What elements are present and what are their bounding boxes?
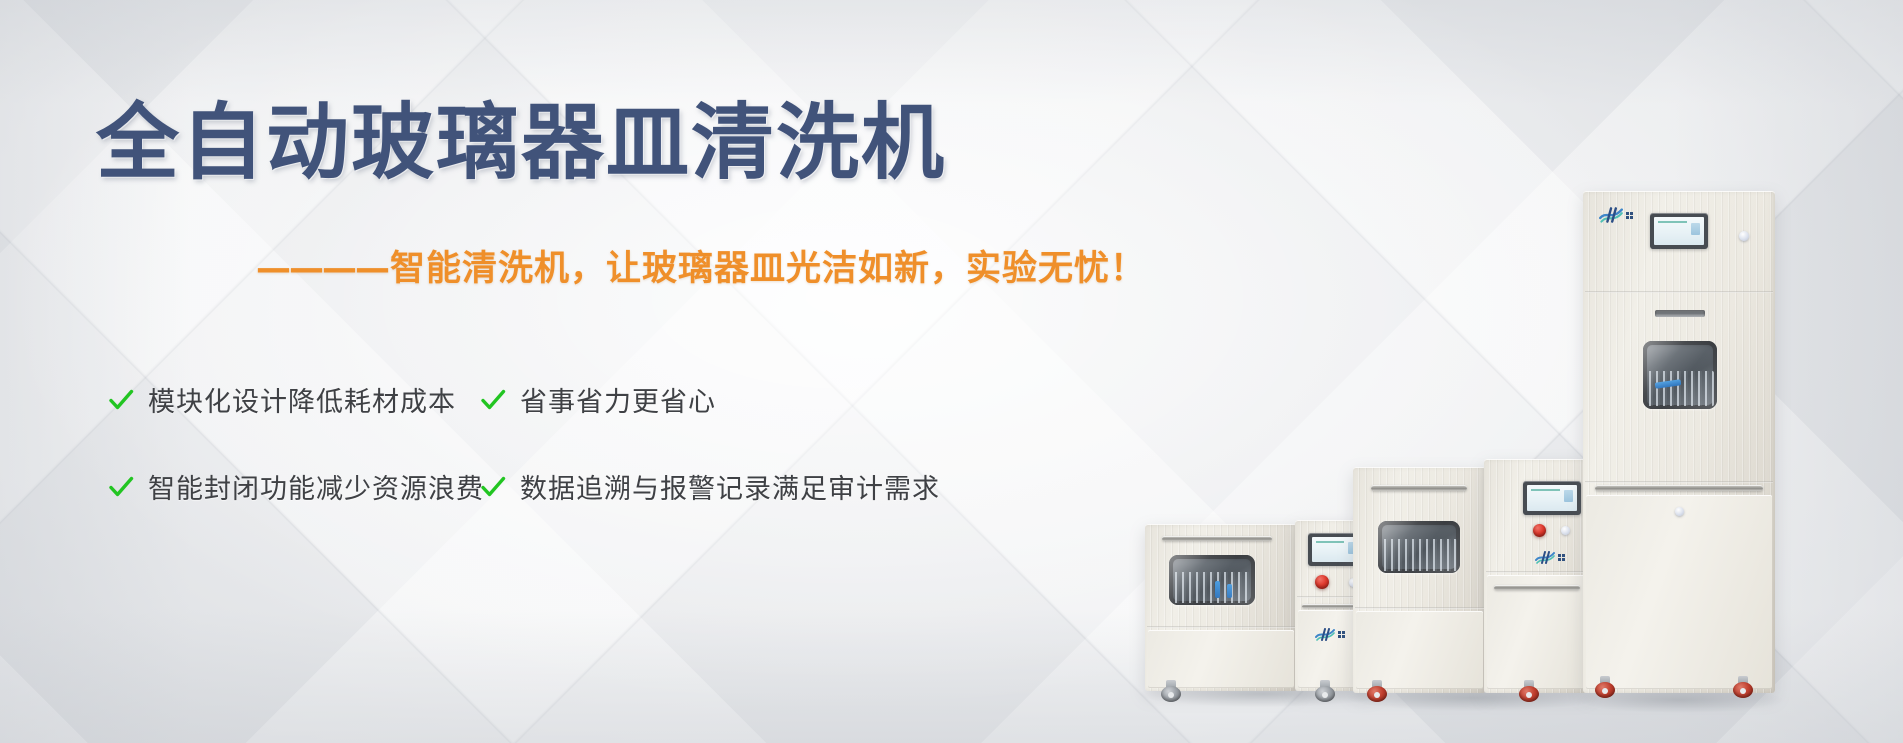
feature-row: 模块化设计降低耗材成本 省事省力更省心 <box>108 380 1088 419</box>
caster-wheel <box>1733 676 1753 698</box>
product-banner: 全自动玻璃器皿清洗机 ————智能清洗机，让玻璃器皿光洁如新，实验无忧！ 模块化… <box>0 0 1903 743</box>
caster-wheel <box>1161 680 1181 702</box>
tower-panel-seam <box>1486 571 1586 573</box>
banner-subheadline: ————智能清洗机，让玻璃器皿光洁如新，实验无忧！ <box>256 240 1146 291</box>
touchscreen[interactable] <box>1650 213 1708 249</box>
check-icon <box>108 474 134 500</box>
check-icon <box>480 387 506 413</box>
feature-label: 模块化设计降低耗材成本 <box>148 380 456 419</box>
product-undercounter-washer <box>1145 520 1377 695</box>
emergency-stop-button[interactable] <box>1315 575 1329 589</box>
brand-logo <box>1599 207 1633 223</box>
check-icon <box>480 474 506 500</box>
brand-logo-mark <box>1315 628 1335 641</box>
caster-wheel <box>1519 680 1539 702</box>
panel-lock[interactable] <box>1675 507 1684 516</box>
brand-logo-dots <box>1338 631 1345 638</box>
product-image-group <box>1063 0 1903 743</box>
caster-wheel <box>1315 680 1335 702</box>
brand-logo-mark <box>1535 551 1555 564</box>
power-button[interactable] <box>1739 231 1749 241</box>
chamber-door-window <box>1169 555 1255 605</box>
touchscreen-display <box>1527 485 1577 511</box>
feature-label: 智能封闭功能减少资源浪费 <box>148 467 484 506</box>
product-freestanding-washer <box>1353 459 1589 699</box>
feature-row: 智能封闭功能减少资源浪费 数据追溯与报警记录满足审计需求 <box>108 467 1088 506</box>
check-icon <box>108 387 134 413</box>
feature-label: 省事省力更省心 <box>520 380 716 419</box>
banner-text-column: 全自动玻璃器皿清洗机 ————智能清洗机，让玻璃器皿光洁如新，实验无忧！ 模块化… <box>0 0 1120 743</box>
banner-headline: 全自动玻璃器皿清洗机 <box>96 98 946 188</box>
lower-access-panel <box>1356 611 1483 689</box>
chamber-door-window <box>1643 341 1717 409</box>
feature-item: 省事省力更省心 <box>480 380 1088 419</box>
product-tall-column-washer <box>1583 191 1775 701</box>
subheadline-text: 智能清洗机，让玻璃器皿光洁如新，实验无忧！ <box>390 249 1146 289</box>
feature-list: 模块化设计降低耗材成本 省事省力更省心 智能封闭功能减少资源浪费 <box>108 380 1088 554</box>
tower-lower-panel <box>1487 575 1586 689</box>
emergency-stop-button[interactable] <box>1533 524 1546 537</box>
vent-slot <box>1655 310 1705 317</box>
chamber-panel-seam <box>1147 626 1295 628</box>
brand-logo <box>1315 628 1345 641</box>
brand-logo-dots <box>1626 212 1633 219</box>
subheadline-dash: ———— <box>256 249 388 289</box>
power-button[interactable] <box>1561 526 1570 535</box>
feature-label: 数据追溯与报警记录满足审计需求 <box>520 467 940 506</box>
touchscreen-display <box>1654 217 1704 245</box>
caster-wheel <box>1595 676 1615 698</box>
caster-wheel <box>1367 680 1387 702</box>
lower-panel-seam <box>1585 481 1773 483</box>
chamber-door-handle <box>1371 485 1467 491</box>
window-glass-reflection <box>1169 555 1255 605</box>
feature-item: 模块化设计降低耗材成本 <box>108 380 480 419</box>
tower-drawer-handle <box>1494 585 1580 590</box>
brand-logo <box>1535 551 1565 564</box>
window-glass-reflection <box>1378 521 1460 573</box>
feature-item: 数据追溯与报警记录满足审计需求 <box>480 467 1088 506</box>
chamber-panel-seam <box>1355 607 1484 609</box>
chamber-door-window <box>1378 521 1460 573</box>
touchscreen[interactable] <box>1523 481 1581 515</box>
brand-logo-dots <box>1558 554 1565 561</box>
feature-item: 智能封闭功能减少资源浪费 <box>108 467 480 506</box>
window-glass-reflection <box>1643 341 1717 409</box>
lower-access-panel <box>1586 495 1772 689</box>
lower-door-handle <box>1595 485 1763 491</box>
chamber-door-handle <box>1162 536 1272 541</box>
upper-panel-seam <box>1585 291 1773 293</box>
brand-logo-mark <box>1599 207 1623 223</box>
